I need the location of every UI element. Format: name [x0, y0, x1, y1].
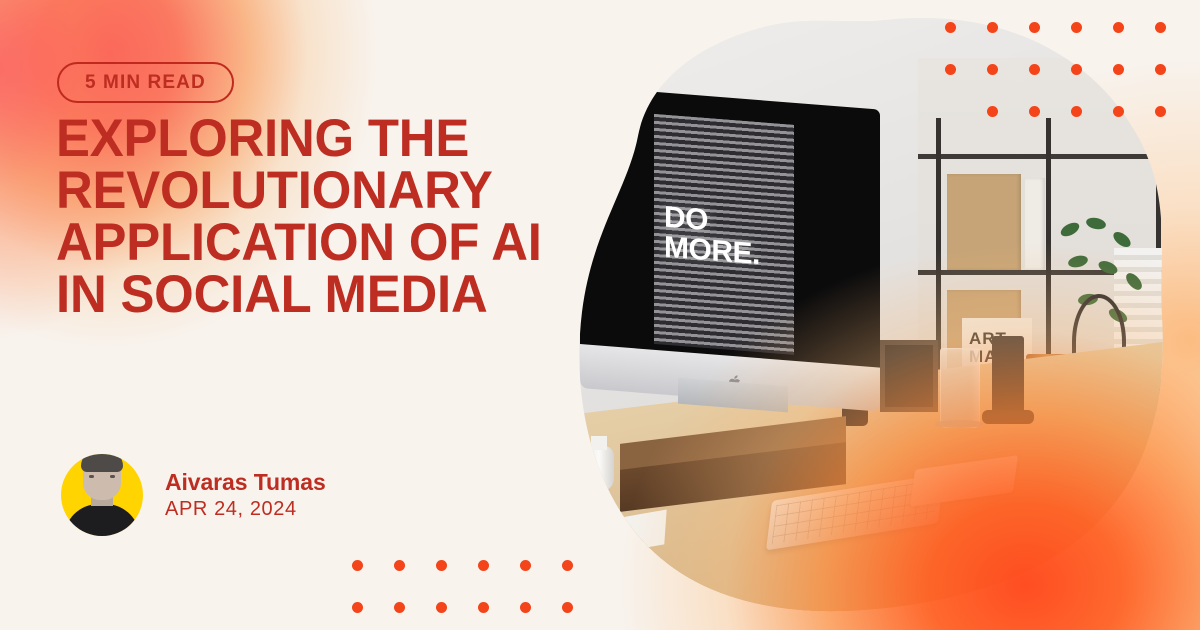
decorative-dot [1113, 106, 1124, 117]
author-text: Aivaras Tumas APR 24, 2024 [165, 469, 326, 521]
screen-text: DO MORE. [664, 203, 760, 271]
plant-leaf [1123, 270, 1145, 292]
decorative-dot [987, 106, 998, 117]
photo-speaker [992, 336, 1024, 414]
avatar-disc [61, 454, 143, 536]
decorative-dot [987, 22, 998, 33]
plant-leaf [1059, 220, 1082, 239]
author-block: Aivaras Tumas APR 24, 2024 [57, 450, 326, 540]
decorative-dot [478, 602, 489, 613]
screen-text-line-2: MORE. [664, 233, 760, 271]
decorative-dot [394, 602, 405, 613]
photo-speaker-base [982, 410, 1034, 424]
decorative-dot [1155, 22, 1166, 33]
plant-leaf [1111, 229, 1134, 250]
read-time-label: 5 MIN READ [85, 72, 206, 94]
decorative-dot [1155, 106, 1166, 117]
decorative-dot [520, 602, 531, 613]
photo-picture-frame [880, 340, 938, 412]
photo-vase-neck [591, 436, 607, 450]
decorative-dot [1155, 64, 1166, 75]
decorative-dot [945, 22, 956, 33]
photo-vase [584, 446, 614, 492]
photo-imac: DO MORE. [580, 86, 880, 416]
plant-leaf [1085, 216, 1107, 231]
read-time-badge: 5 MIN READ [57, 62, 234, 103]
decorative-dot [1113, 22, 1124, 33]
dot-pattern-top-right [945, 22, 1185, 142]
dot-pattern-bottom-left [352, 560, 592, 620]
shelf-notebook [944, 174, 1021, 270]
decorative-dot [436, 602, 447, 613]
avatar [57, 450, 147, 540]
shelf-board [918, 154, 1168, 159]
avatar-portrait-eye-left [89, 475, 94, 478]
plant-leaf [1097, 258, 1120, 276]
author-name: Aivaras Tumas [165, 469, 326, 496]
photo-glass-coaster [934, 420, 984, 428]
decorative-dot [352, 560, 363, 571]
avatar-portrait-hair [81, 454, 123, 472]
decorative-dot [1029, 22, 1040, 33]
decorative-dot [945, 64, 956, 75]
decorative-dot [352, 602, 363, 613]
decorative-dot [1113, 64, 1124, 75]
imac-screen: DO MORE. [580, 86, 880, 382]
avatar-portrait-eye-right [110, 475, 115, 478]
decorative-dot [562, 560, 573, 571]
decorative-dot [1029, 64, 1040, 75]
decorative-dot [562, 602, 573, 613]
page-title: Exploring the Revolutionary Application … [56, 113, 555, 321]
photo-water-glass [940, 348, 980, 428]
decorative-dot [1071, 64, 1082, 75]
decorative-dot [1071, 22, 1082, 33]
decorative-dot [1029, 106, 1040, 117]
social-share-card: ART MA [0, 0, 1200, 630]
publish-date: APR 24, 2024 [165, 498, 326, 521]
decorative-dot [394, 560, 405, 571]
avatar-portrait-shoulders [64, 504, 140, 536]
decorative-dot [1071, 106, 1082, 117]
decorative-dot [436, 560, 447, 571]
decorative-dot [520, 560, 531, 571]
shelf-notebook [1022, 178, 1045, 270]
decorative-dot [478, 560, 489, 571]
plant-leaf [1067, 254, 1089, 270]
decorative-dot [987, 64, 998, 75]
